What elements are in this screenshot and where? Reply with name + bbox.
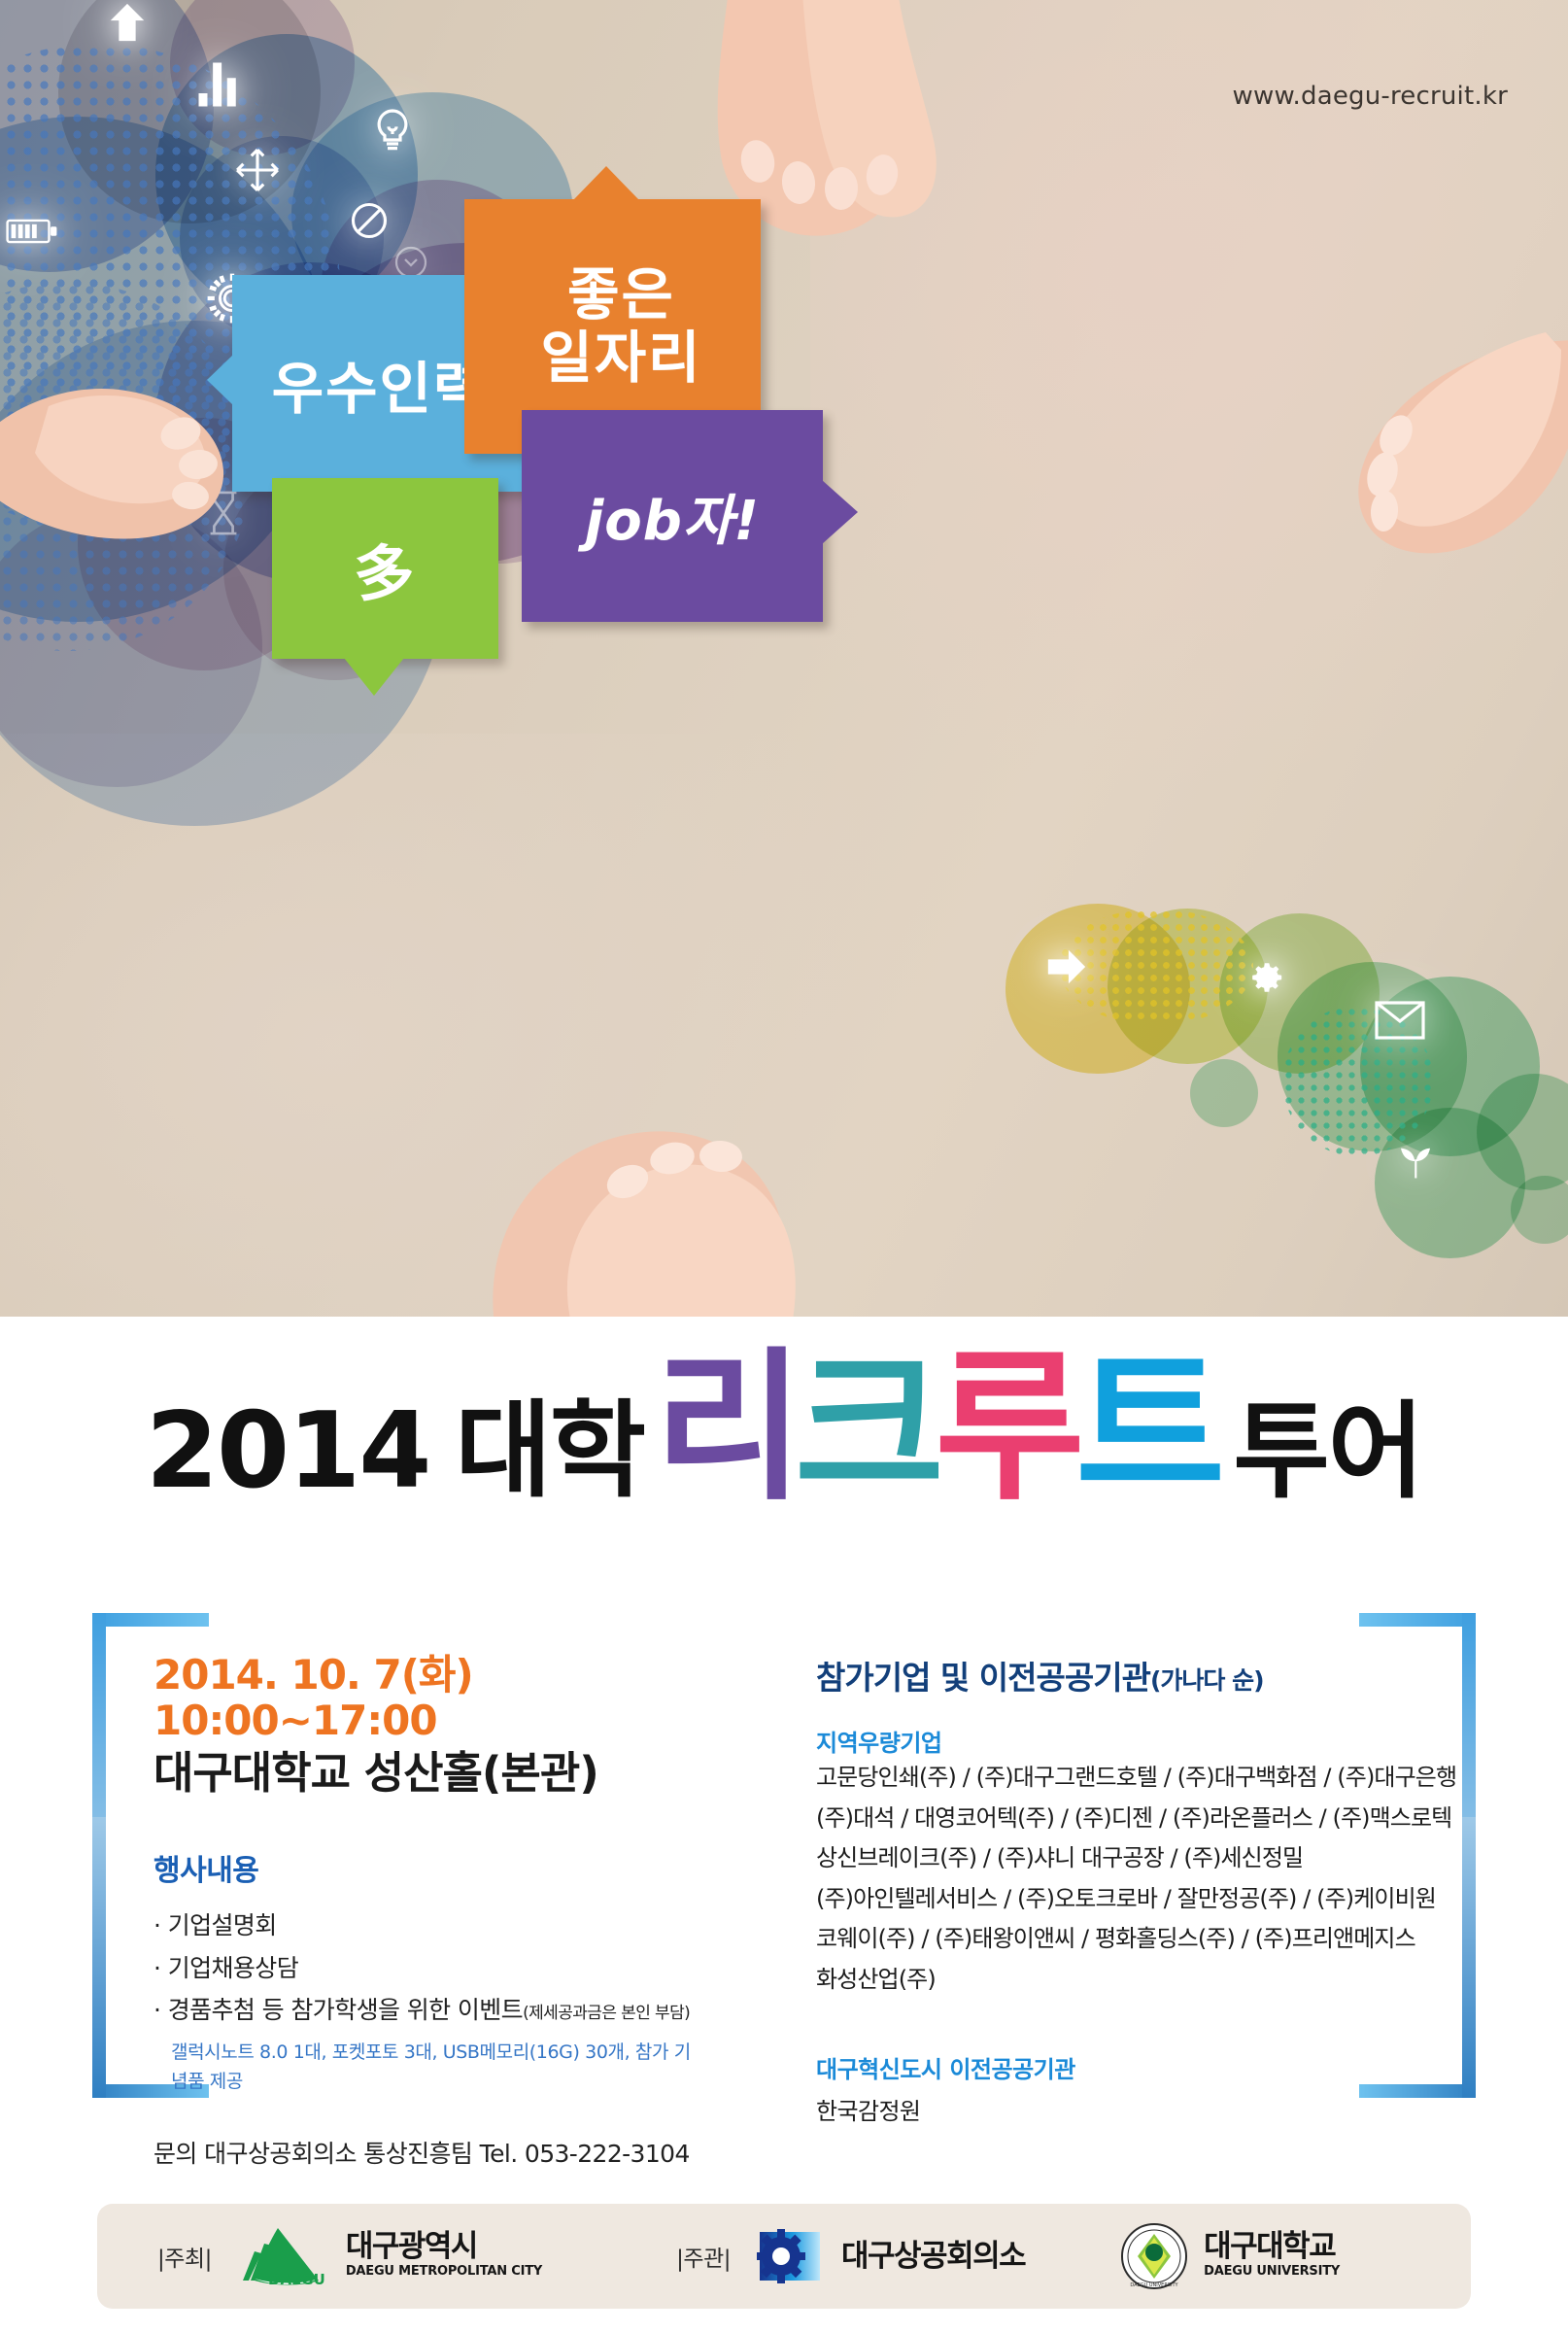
event-date: 2014. 10. 7(화) 10:00~17:00 bbox=[153, 1652, 698, 1743]
company-list: 고문당인쇄(주) / (주)대구그랜드호텔 / (주)대구백화점 / (주)대구… bbox=[816, 1758, 1418, 2000]
speech-bubble-many: 多 bbox=[272, 478, 498, 659]
title-row: 2014 대학 리 크 루 트 투어 bbox=[146, 1353, 1422, 1505]
university-group: DAEGU UNIVERSITY 대구대학교 DAEGU UNIVERSITY bbox=[1120, 2222, 1340, 2290]
host-name-en: DAEGU METROPOLITAN CITY bbox=[346, 2264, 542, 2279]
bracket-bottom-right-v bbox=[1462, 1817, 1476, 2098]
arrow-up-icon bbox=[105, 0, 150, 45]
daegu-university-seal-icon: DAEGU UNIVERSITY bbox=[1120, 2222, 1188, 2290]
list-item: 화성산업(주) bbox=[816, 1960, 1418, 2001]
university-name-en: DAEGU UNIVERSITY bbox=[1204, 2264, 1340, 2279]
gear-icon bbox=[1246, 957, 1287, 998]
title-char-4: 트 bbox=[1075, 1353, 1216, 1503]
list-item: 코웨이(주) / (주)태왕이앤씨 / 평화홀딩스(주) / (주)프리앤메지스 bbox=[816, 1919, 1418, 1960]
bubble-text-line2: 일자리 bbox=[540, 326, 701, 390]
host-label: |주최| bbox=[157, 2240, 212, 2273]
deco-bubble bbox=[1190, 1059, 1258, 1127]
bubble-pointer bbox=[207, 355, 233, 405]
bracket-top-left bbox=[92, 1613, 209, 1627]
participants-column: 참가기업 및 이전공공기관(가나다 순) 지역우량기업 고문당인쇄(주) / (… bbox=[816, 1652, 1418, 2126]
bubble-pointer bbox=[344, 658, 404, 696]
bubble-text: 多 bbox=[272, 478, 498, 659]
list-item: · 기업채용상담 bbox=[153, 1947, 698, 1990]
event-program-heading: 행사내용 bbox=[153, 1846, 698, 1889]
subheading-public-institutions: 대구혁신도시 이전공공기관 bbox=[816, 2050, 1418, 2084]
title-prefix: 대학 bbox=[455, 1399, 644, 1504]
leaf-icon bbox=[1391, 1139, 1440, 1182]
bracket-top-right bbox=[1359, 1613, 1476, 1627]
chamber-of-commerce-logo-icon bbox=[752, 2226, 826, 2286]
list-item: (주)아인텔레서비스 / (주)오토크로바 / 잘만정공(주) / (주)케이비… bbox=[816, 1879, 1418, 1920]
title-wordmark: 리 크 루 트 bbox=[654, 1353, 1215, 1503]
hero-section: 우수인력 좋은 일자리 多 job자! www.daegu-recruit.kr bbox=[0, 0, 1568, 1317]
svg-text:DAEGU UNIVERSITY: DAEGU UNIVERSITY bbox=[1131, 2282, 1179, 2288]
title-char-2: 크 bbox=[795, 1353, 936, 1503]
participants-title-main: 참가기업 및 이전공공기관 bbox=[816, 1659, 1150, 1697]
speech-bubble-jobja: job자! bbox=[522, 410, 823, 622]
poster: 우수인력 좋은 일자리 多 job자! www.daegu-recruit.kr bbox=[0, 0, 1568, 2333]
contact-info: 문의 대구상공회의소 통상진흥팀 Tel. 053-222-3104 bbox=[153, 2135, 698, 2170]
bubble-pointer bbox=[573, 166, 639, 200]
university-name-kr: 대구대학교 bbox=[1204, 2229, 1335, 2264]
host-name: 대구광역시 DAEGU METROPOLITAN CITY bbox=[346, 2232, 542, 2281]
university-name: 대구대학교 DAEGU UNIVERSITY bbox=[1204, 2232, 1340, 2281]
list-item: 고문당인쇄(주) / (주)대구그랜드호텔 / (주)대구백화점 / (주)대구… bbox=[816, 1758, 1418, 1799]
website-url[interactable]: www.daegu-recruit.kr bbox=[1233, 82, 1508, 111]
bar-chart-icon bbox=[194, 58, 247, 111]
organizer-label: |주관| bbox=[676, 2240, 731, 2273]
sponsor-footer: |주최| DAEGU 대구광역시 DAEGU METROPOLITAN CITY… bbox=[97, 2204, 1471, 2309]
list-item: · 기업설명회 bbox=[153, 1904, 698, 1947]
list-item: 한국감정원 bbox=[816, 2092, 1418, 2126]
event-program-list: · 기업설명회 · 기업채용상담 · 경품추첨 등 참가학생을 위한 이벤트(제… bbox=[153, 1904, 698, 2096]
lightbulb-icon bbox=[369, 107, 416, 154]
bubble-text: job자! bbox=[522, 410, 823, 622]
bubble-pointer bbox=[822, 480, 858, 544]
no-entry-icon bbox=[348, 199, 391, 242]
participants-title: 참가기업 및 이전공공기관(가나다 순) bbox=[816, 1652, 1418, 1698]
bracket-bottom-left-v bbox=[92, 1817, 106, 2098]
event-details-column: 2014. 10. 7(화) 10:00~17:00 대구대학교 성산홀(본관)… bbox=[153, 1652, 698, 2170]
hand-right bbox=[1258, 311, 1568, 632]
list-item: (주)대석 / 대영코어텍(주) / (주)디젠 / (주)라온플러스 / (주… bbox=[816, 1799, 1418, 1839]
hand-bottom-center bbox=[457, 991, 874, 1317]
title-year: 2014 bbox=[146, 1399, 430, 1504]
list-item: 상신브레이크(주) / (주)샤니 대구공장 / (주)세신정밀 bbox=[816, 1838, 1418, 1879]
daegu-city-logo-icon: DAEGU bbox=[235, 2224, 328, 2288]
svg-text:DAEGU: DAEGU bbox=[268, 2271, 325, 2288]
host-name-kr: 대구광역시 bbox=[346, 2229, 477, 2264]
poster-title: 2014 대학 리 크 루 트 투어 bbox=[0, 1317, 1568, 1540]
organizer-name-kr: 대구상공회의소 bbox=[841, 2242, 1025, 2272]
mail-icon bbox=[1375, 1001, 1425, 1040]
title-char-3: 루 bbox=[935, 1353, 1075, 1503]
title-char-1: 리 bbox=[654, 1353, 795, 1503]
title-suffix: 투어 bbox=[1233, 1399, 1422, 1504]
deco-bubble bbox=[1511, 1176, 1568, 1244]
organizer-group: |주관| bbox=[676, 2226, 1025, 2286]
event-venue: 대구대학교 성산홀(본관) bbox=[153, 1747, 698, 1800]
list-item-text: · 경품추첨 등 참가학생을 위한 이벤트 bbox=[153, 1996, 523, 2024]
list-item: · 경품추첨 등 참가학생을 위한 이벤트(제세공과금은 본인 부담) bbox=[153, 1989, 698, 2032]
move-arrows-icon bbox=[233, 146, 282, 194]
list-item-note: (제세공과금은 본인 부담) bbox=[523, 2004, 690, 2023]
bubble-text-line1: 좋은 bbox=[567, 263, 675, 326]
battery-icon bbox=[6, 216, 58, 247]
host-group: |주최| DAEGU 대구광역시 DAEGU METROPOLITAN CITY bbox=[157, 2224, 542, 2288]
arrow-right-icon bbox=[1044, 947, 1089, 986]
participants-title-suffix: (가나다 순) bbox=[1150, 1666, 1264, 1695]
subheading-local-companies: 지역우량기업 bbox=[816, 1724, 1418, 1758]
prize-note: 갤럭시노트 8.0 1대, 포켓포토 3대, USB메모리(16G) 30개, … bbox=[171, 2038, 698, 2097]
